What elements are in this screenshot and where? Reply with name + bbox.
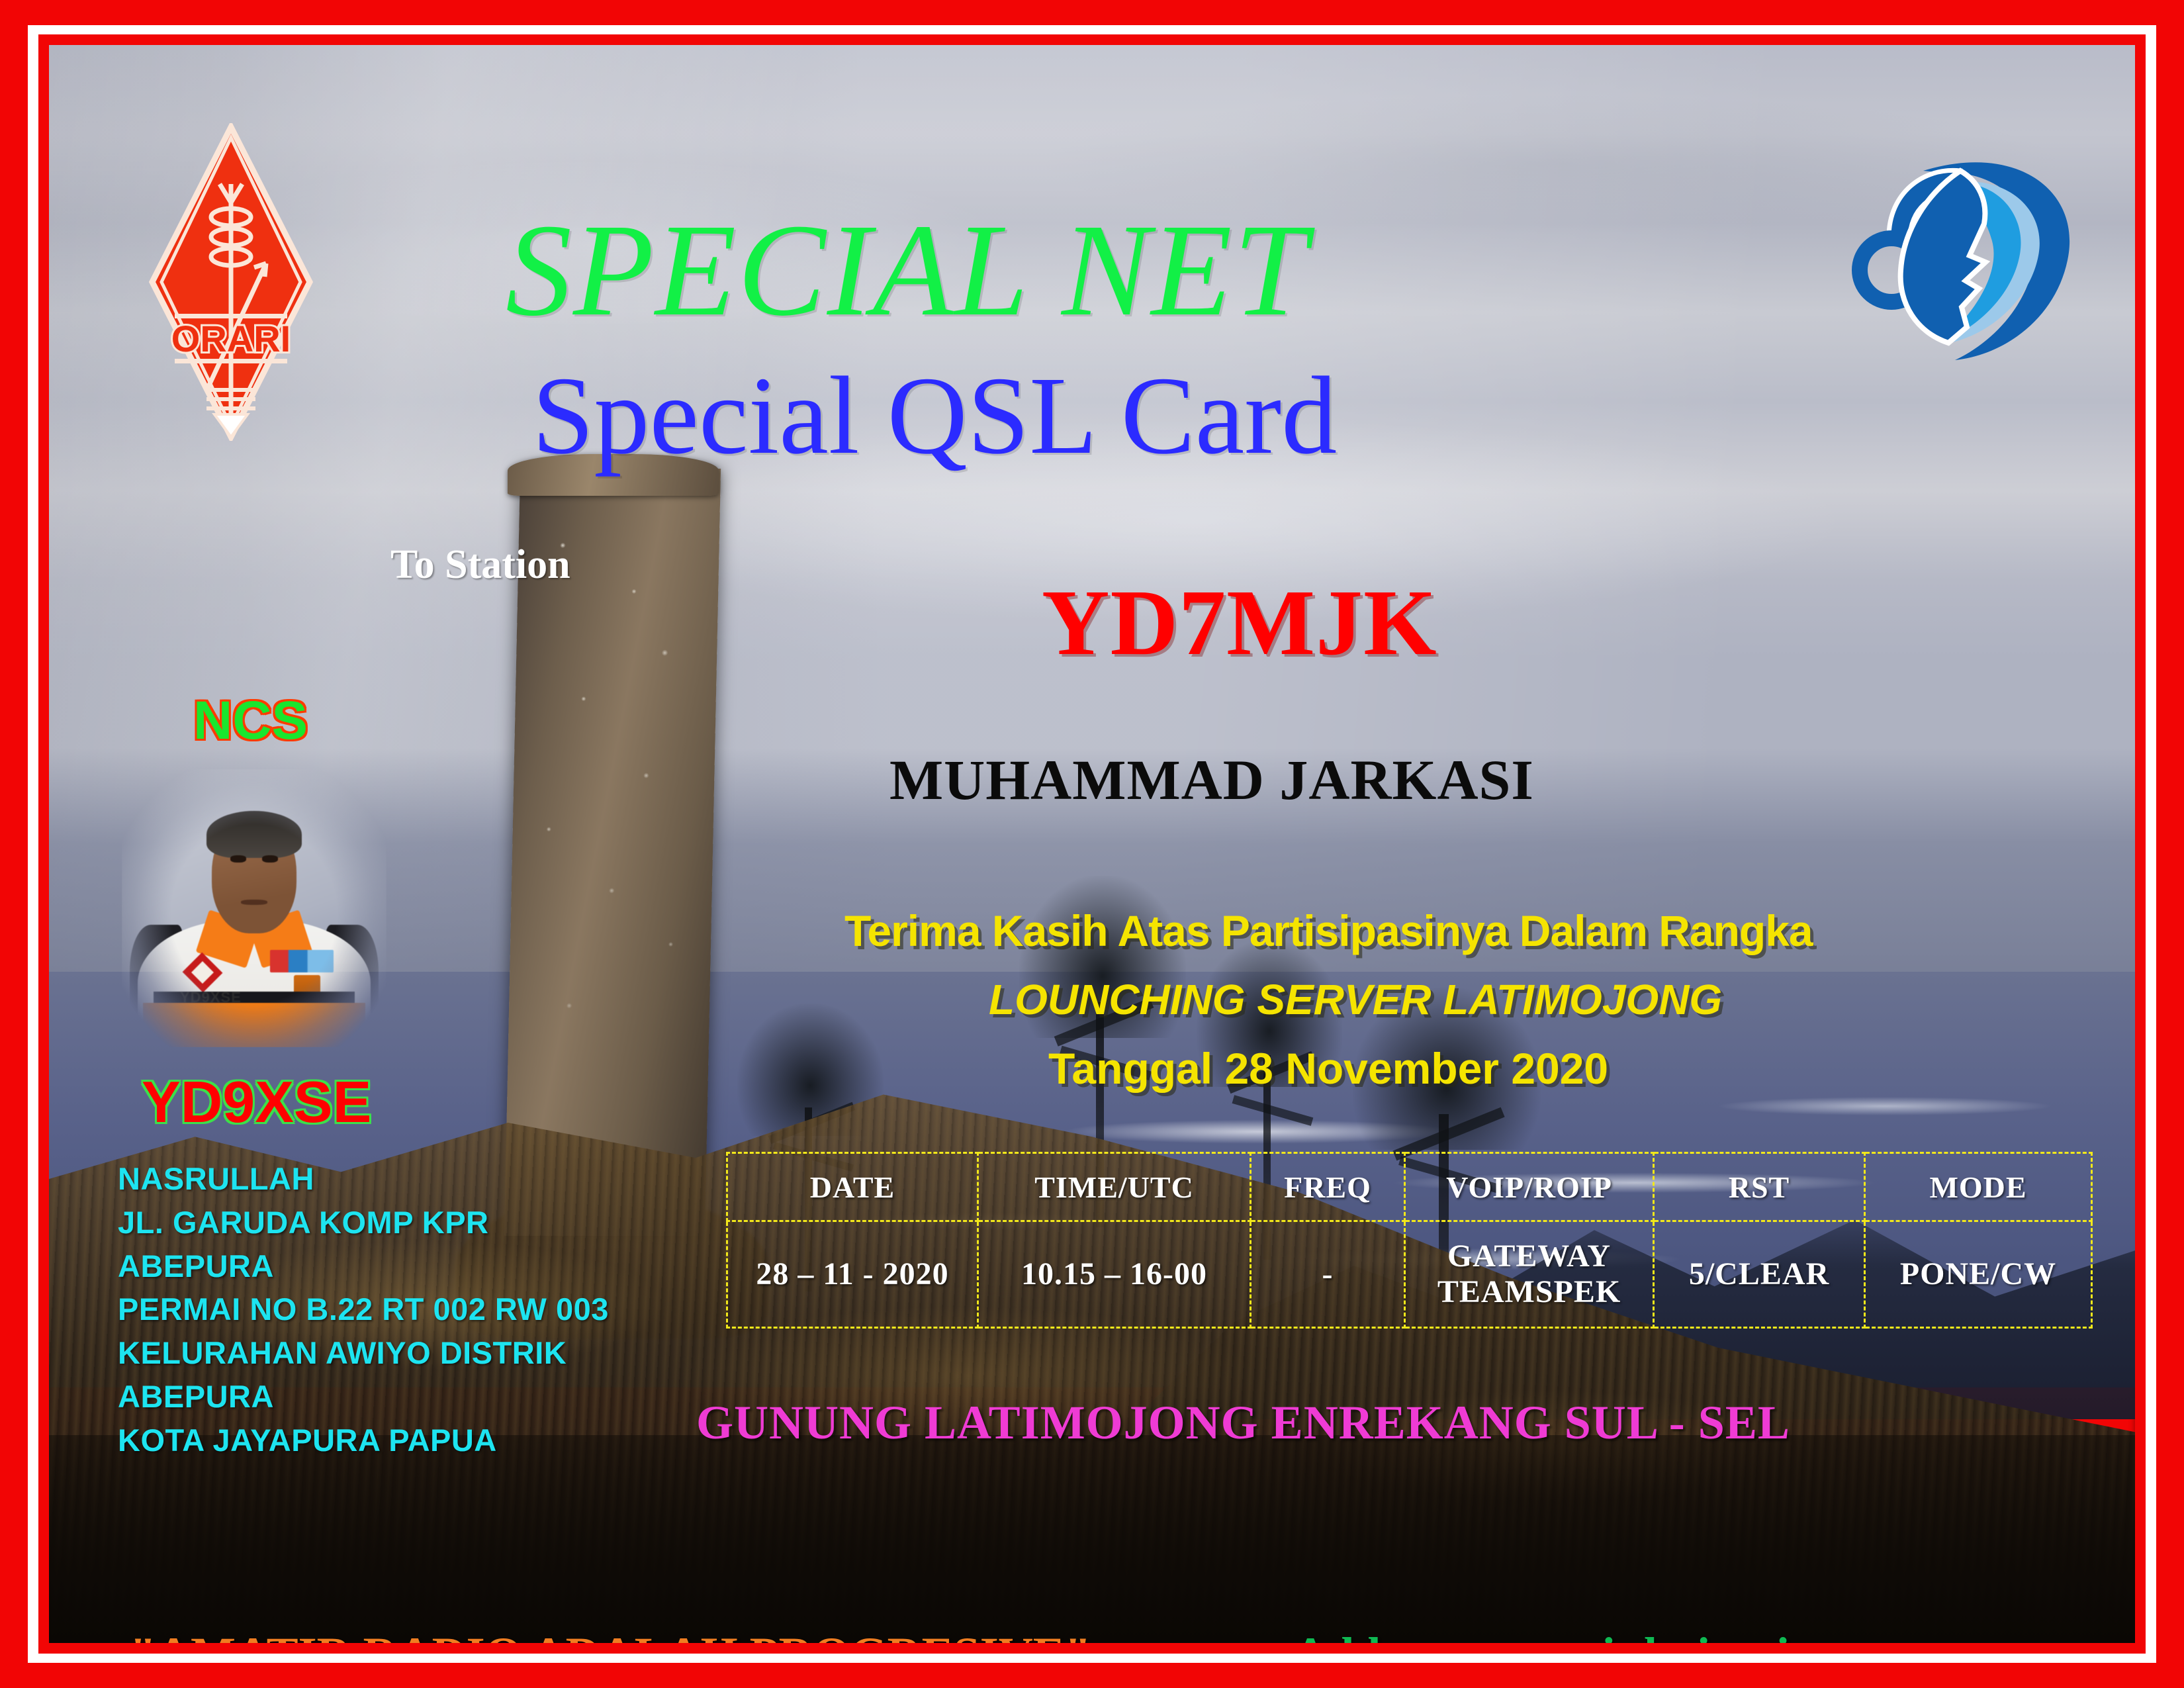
table-header-rst: RST	[1654, 1153, 1865, 1221]
address-line: KOTA JAYAPURA PAPUA	[118, 1419, 609, 1462]
table-header-freq: FREQ	[1251, 1153, 1405, 1221]
ncs-label: NCS	[193, 690, 308, 752]
qsl-card: ORARI SPECIAL NET Special QSL Card	[0, 0, 2184, 1688]
uniform-chest-patch	[270, 950, 334, 972]
orari-logo-text: ORARI	[171, 318, 291, 359]
table-header-date: DATE	[727, 1153, 978, 1221]
table-cell-freq: -	[1251, 1221, 1405, 1328]
table-header-time: TIME/UTC	[978, 1153, 1251, 1221]
footer-motto: "AMATIR RADIO ADALAH PROGRESIVE"	[130, 1627, 1091, 1643]
table-cell-rst: 5/CLEAR	[1654, 1221, 1865, 1328]
station-callsign: YD7MJK	[1042, 568, 1437, 677]
address-line: ABEPURA	[118, 1375, 609, 1419]
location-text: GUNUNG LATIMOJONG ENREKANG SUL - SEL	[696, 1395, 1790, 1450]
event-date-line: Tanggal 28 November 2020	[1048, 1043, 1608, 1094]
table-cell-mode: PONE/CW	[1865, 1221, 2092, 1328]
address-line: PERMAI NO B.22 RT 002 RW 003	[118, 1288, 609, 1331]
footer-website: Address : amatir.latimojong.com	[1293, 1627, 1960, 1643]
table-cell-time: 10.15 – 16-00	[978, 1221, 1251, 1328]
orari-logo: ORARI	[148, 123, 314, 441]
card-inner-red-border: ORARI SPECIAL NET Special QSL Card	[38, 34, 2146, 1654]
to-station-label: To Station	[390, 541, 570, 588]
ncs-callsign: YD9XSE	[142, 1068, 371, 1136]
table-cell-date: 28 – 11 - 2020	[727, 1221, 978, 1328]
event-title-line: LOUNCHING SERVER LATIMOJONG	[989, 975, 1722, 1024]
address-line: KELURAHAN AWIYO DISTRIK	[118, 1331, 609, 1375]
table-header-row: DATE TIME/UTC FREQ VOIP/ROIP RST MODE	[727, 1153, 2092, 1221]
card-white-border: ORARI SPECIAL NET Special QSL Card	[28, 25, 2156, 1663]
table-row: 28 – 11 - 2020 10.15 – 16-00 - GATEWAYTE…	[727, 1221, 2092, 1328]
card-photo-background: ORARI SPECIAL NET Special QSL Card	[49, 45, 2135, 1643]
qso-log-table: DATE TIME/UTC FREQ VOIP/ROIP RST MODE 28…	[726, 1152, 2093, 1329]
address-line: JL. GARUDA KOMP KPR	[118, 1201, 609, 1244]
page-subtitle: Special QSL Card	[532, 352, 1337, 480]
address-line: NASRULLAH	[118, 1157, 609, 1201]
table-header-mode: MODE	[1865, 1153, 2092, 1221]
ncs-operator-photo: YD9XSE	[122, 769, 387, 1047]
background-ground-shadow	[49, 1435, 2135, 1643]
operator-name: MUHAMMAD JARKASI	[889, 747, 1534, 813]
address-line: ABEPURA	[118, 1244, 609, 1288]
table-cell-voip-roip: GATEWAYTEAMSPEK	[1405, 1221, 1654, 1328]
uniform-callsign-text: YD9XSE	[180, 989, 242, 1006]
net-headphones-logo	[1849, 144, 2074, 363]
address-block: NASRULLAH JL. GARUDA KOMP KPR ABEPURA PE…	[118, 1157, 609, 1462]
table-header-voip-roip: VOIP/ROIP	[1405, 1153, 1654, 1221]
page-title: SPECIAL NET	[506, 195, 1308, 346]
event-thanks-line: Terima Kasih Atas Partisipasinya Dalam R…	[844, 906, 1813, 956]
